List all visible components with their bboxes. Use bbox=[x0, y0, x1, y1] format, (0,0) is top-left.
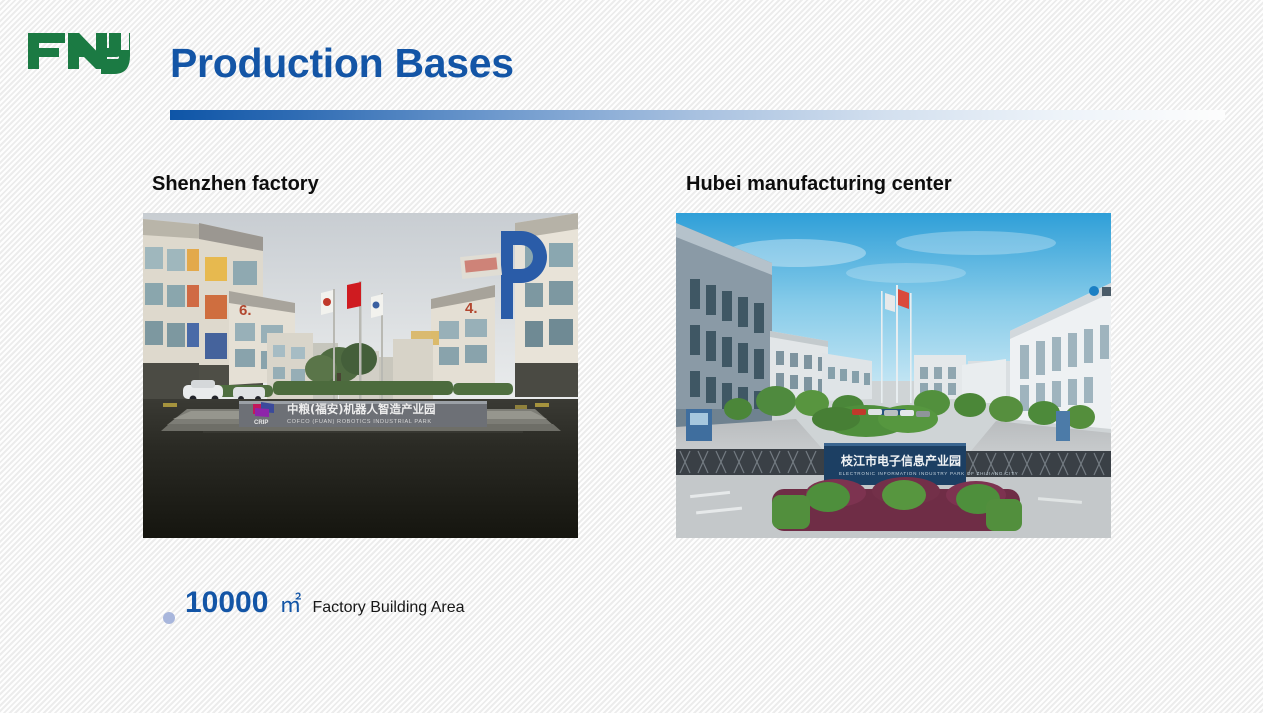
hubei-manufacturing-center-image: 枝江市电子信息产业园 ELECTRONIC INFORMATION INDUST… bbox=[676, 213, 1111, 538]
svg-text:CRIP: CRIP bbox=[254, 420, 268, 426]
stat-label: Factory Building Area bbox=[312, 599, 464, 617]
shenzhen-sign-text: 中粮(福安)机器人智造产业园 COFCO (FUAN) ROBOTICS IND… bbox=[287, 402, 436, 425]
svg-text:4.: 4. bbox=[465, 300, 478, 317]
stat-number: 10000 bbox=[185, 586, 268, 620]
svg-text:ELECTRONIC INFORMATION INDUSTR: ELECTRONIC INFORMATION INDUSTRY PARK OF … bbox=[839, 471, 1018, 476]
hubei-manufacturing-center-photo[interactable]: 枝江市电子信息产业园 ELECTRONIC INFORMATION INDUST… bbox=[676, 213, 1111, 538]
svg-text:6.: 6. bbox=[239, 302, 252, 319]
title-underline-rule bbox=[170, 110, 1225, 120]
page-title: Production Bases bbox=[170, 41, 514, 86]
stat-unit: ㎡ bbox=[279, 587, 301, 619]
svg-text:COFCO (FUAN) ROBOTICS INDUSTRI: COFCO (FUAN) ROBOTICS INDUSTRIAL PARK bbox=[287, 419, 432, 425]
shenzhen-factory-photo[interactable]: 6. bbox=[143, 213, 578, 538]
fny-logo-icon bbox=[26, 26, 132, 74]
fny-logo[interactable] bbox=[26, 26, 132, 74]
slide-root: Production Bases Shenzhen factory bbox=[0, 0, 1263, 713]
svg-text:中粮(福安)机器人智造产业园: 中粮(福安)机器人智造产业园 bbox=[287, 402, 436, 416]
stat-factory-building-area: 10000 ㎡ Factory Building Area bbox=[162, 586, 465, 620]
svg-text:枝江市电子信息产业园: 枝江市电子信息产业园 bbox=[840, 453, 961, 468]
panel-heading-hubei: Hubei manufacturing center bbox=[686, 173, 952, 196]
panel-heading-shenzhen: Shenzhen factory bbox=[152, 173, 319, 196]
shenzhen-factory-image: 6. bbox=[143, 213, 578, 538]
